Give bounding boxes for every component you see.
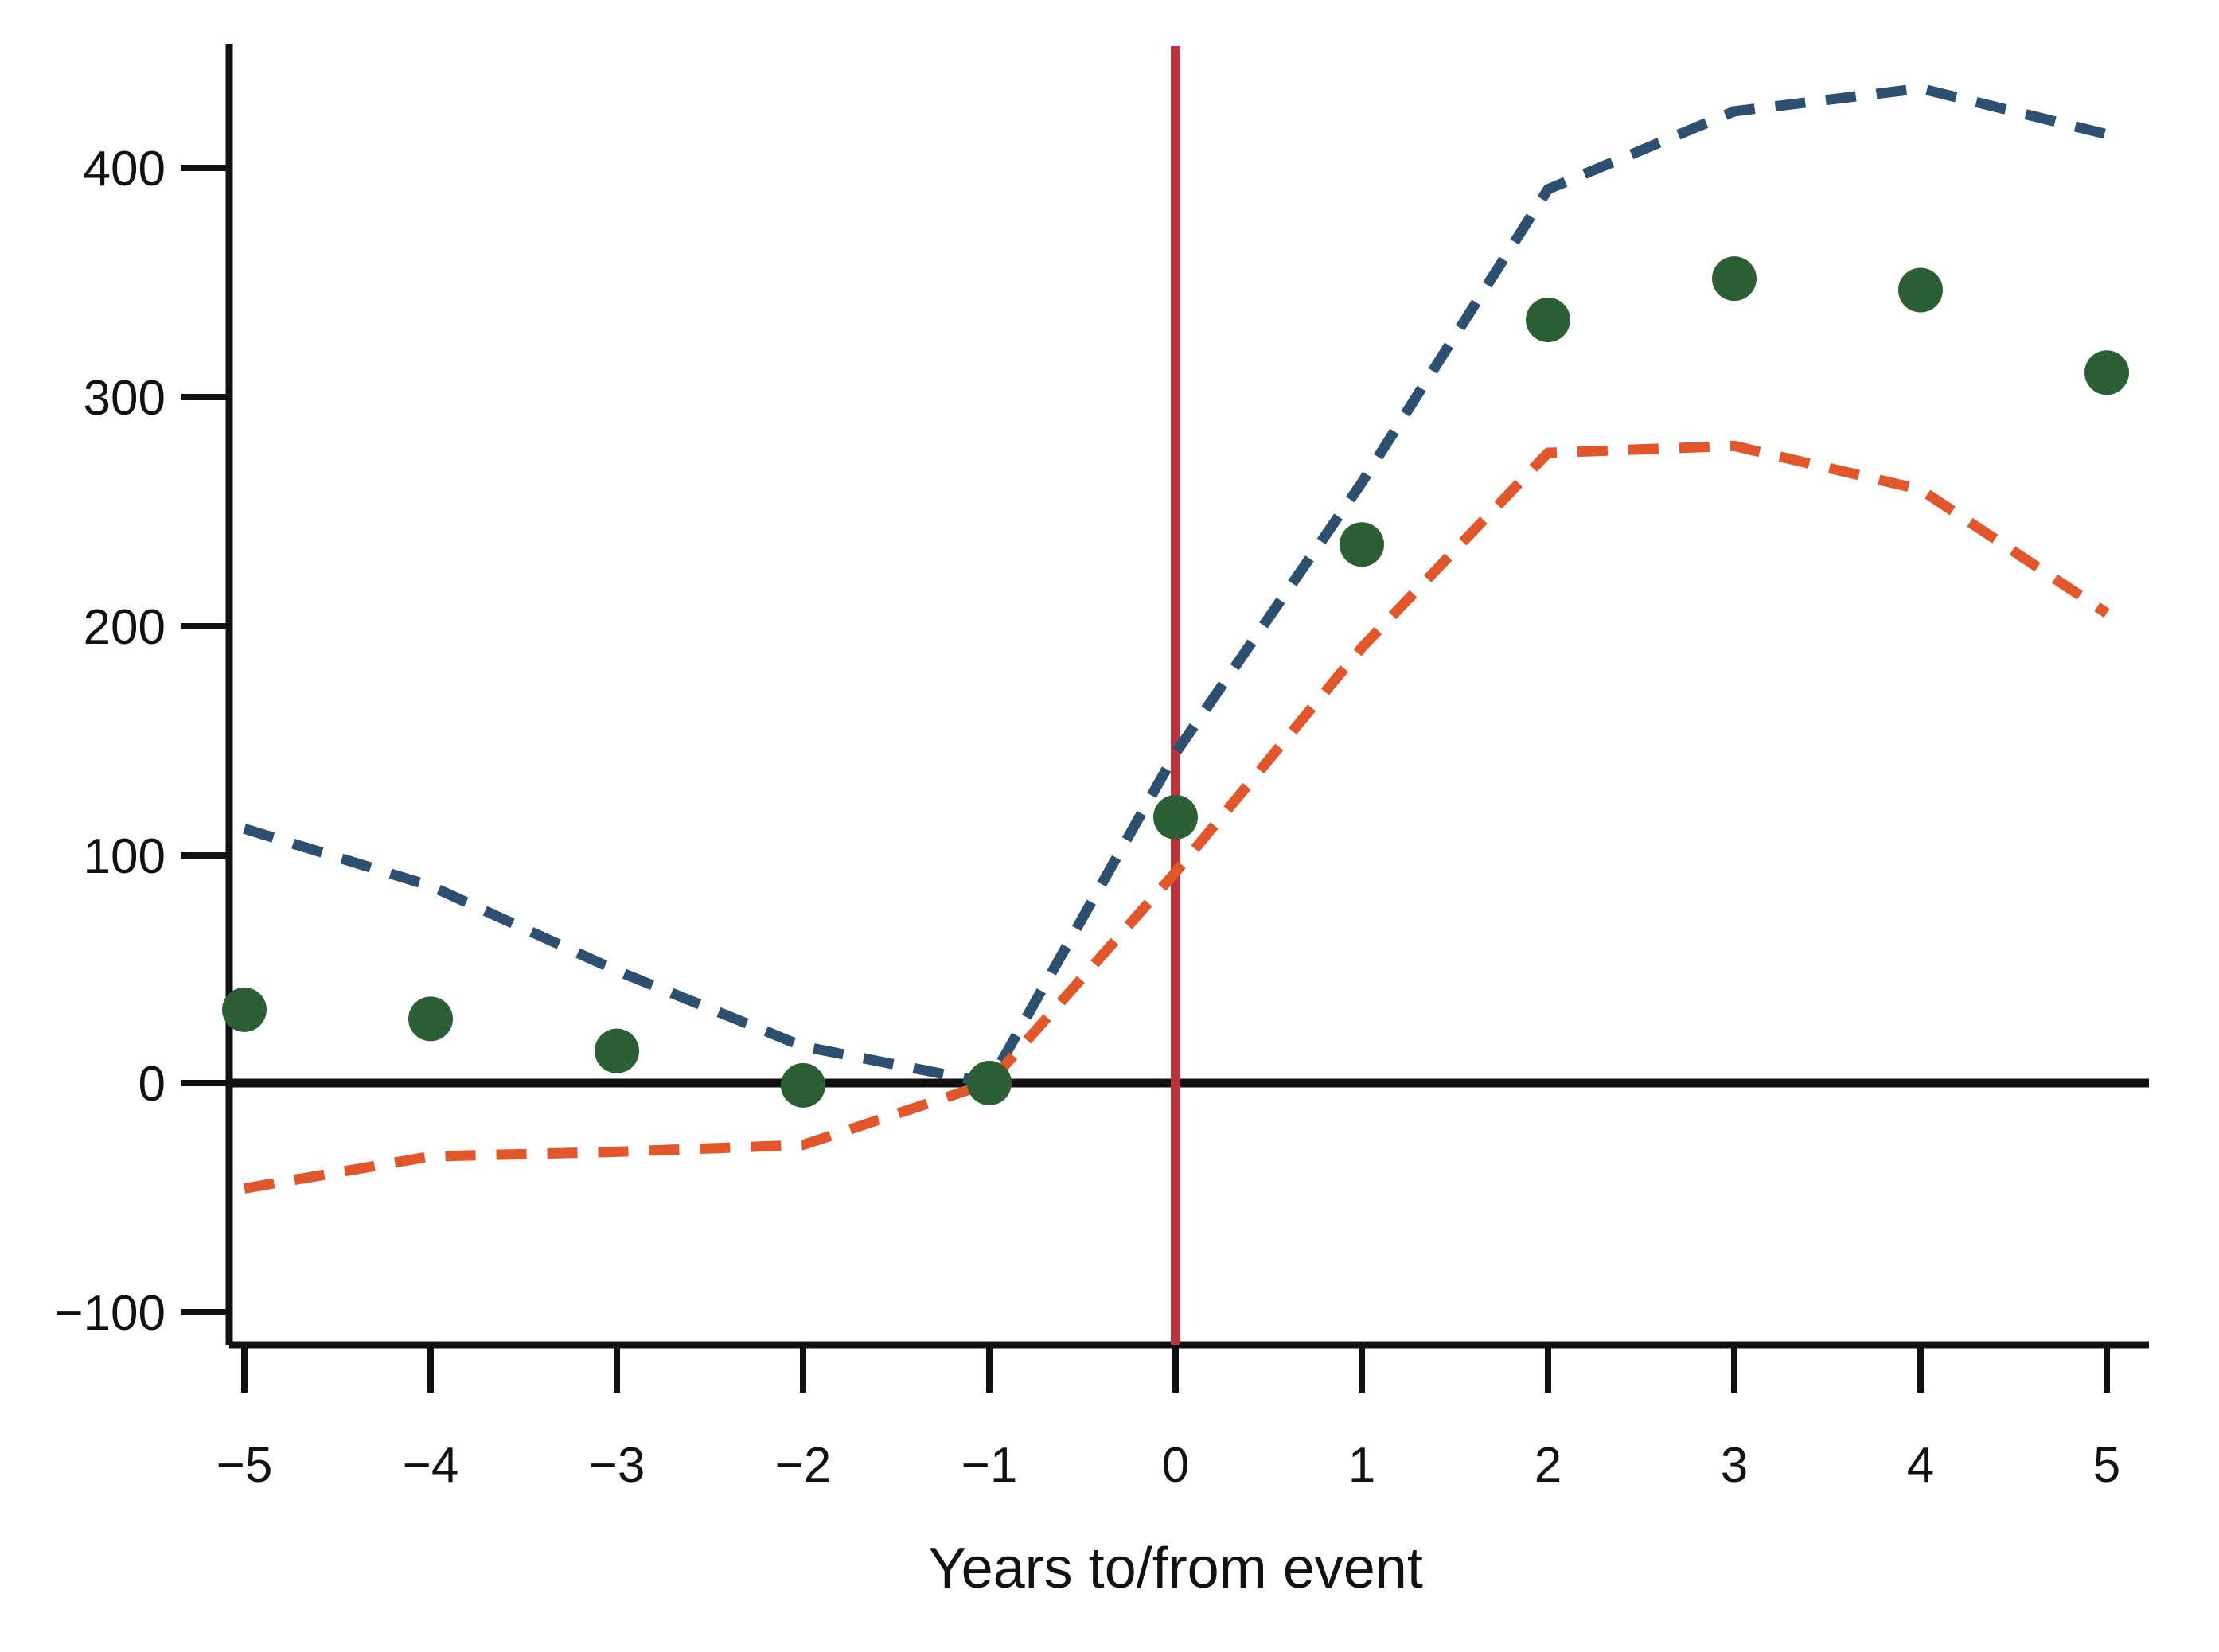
- data-point-marker: [781, 1063, 825, 1108]
- x-tick-label-0: 0: [1162, 1438, 1189, 1493]
- y-tick-label-100: 100: [84, 829, 166, 884]
- y-tick-label-400: 400: [84, 142, 166, 197]
- chart-canvas: 400 300 200 100 0 −100 −5 −4 −3 −2 −1 0 …: [0, 0, 2219, 1652]
- event-study-chart: 400 300 200 100 0 −100 −5 −4 −3 −2 −1 0 …: [0, 0, 2219, 1652]
- x-tick-marks: [244, 1345, 2107, 1393]
- data-point-marker: [1153, 795, 1198, 840]
- data-point-marker: [595, 1029, 639, 1073]
- x-tick-label-3: 3: [1721, 1438, 1748, 1493]
- data-point-marker: [1712, 256, 1757, 301]
- x-tick-label-neg3: −3: [589, 1438, 645, 1493]
- data-point-marker: [408, 996, 453, 1041]
- x-tick-label-2: 2: [1535, 1438, 1562, 1493]
- y-tick-label-neg100: −100: [54, 1286, 166, 1341]
- x-tick-label-5: 5: [2093, 1438, 2120, 1493]
- data-point-marker: [1340, 522, 1384, 567]
- data-point-marker: [1526, 298, 1570, 342]
- data-point-marker: [967, 1061, 1012, 1105]
- x-tick-label-neg4: −4: [403, 1438, 459, 1493]
- x-tick-label-neg1: −1: [961, 1438, 1018, 1493]
- data-point-marker: [2084, 350, 2129, 395]
- x-axis-title: Years to/from event: [928, 1537, 1423, 1600]
- y-tick-label-0: 0: [138, 1057, 166, 1112]
- data-point-marker: [222, 988, 267, 1032]
- x-tick-label-neg2: −2: [775, 1438, 832, 1493]
- y-tick-label-200: 200: [84, 600, 166, 655]
- x-tick-label-neg5: −5: [216, 1438, 273, 1493]
- x-tick-label-1: 1: [1348, 1438, 1375, 1493]
- data-point-marker: [1898, 268, 1943, 313]
- y-tick-label-300: 300: [84, 371, 166, 426]
- x-tick-label-4: 4: [1907, 1438, 1934, 1493]
- y-tick-marks: [181, 168, 229, 1312]
